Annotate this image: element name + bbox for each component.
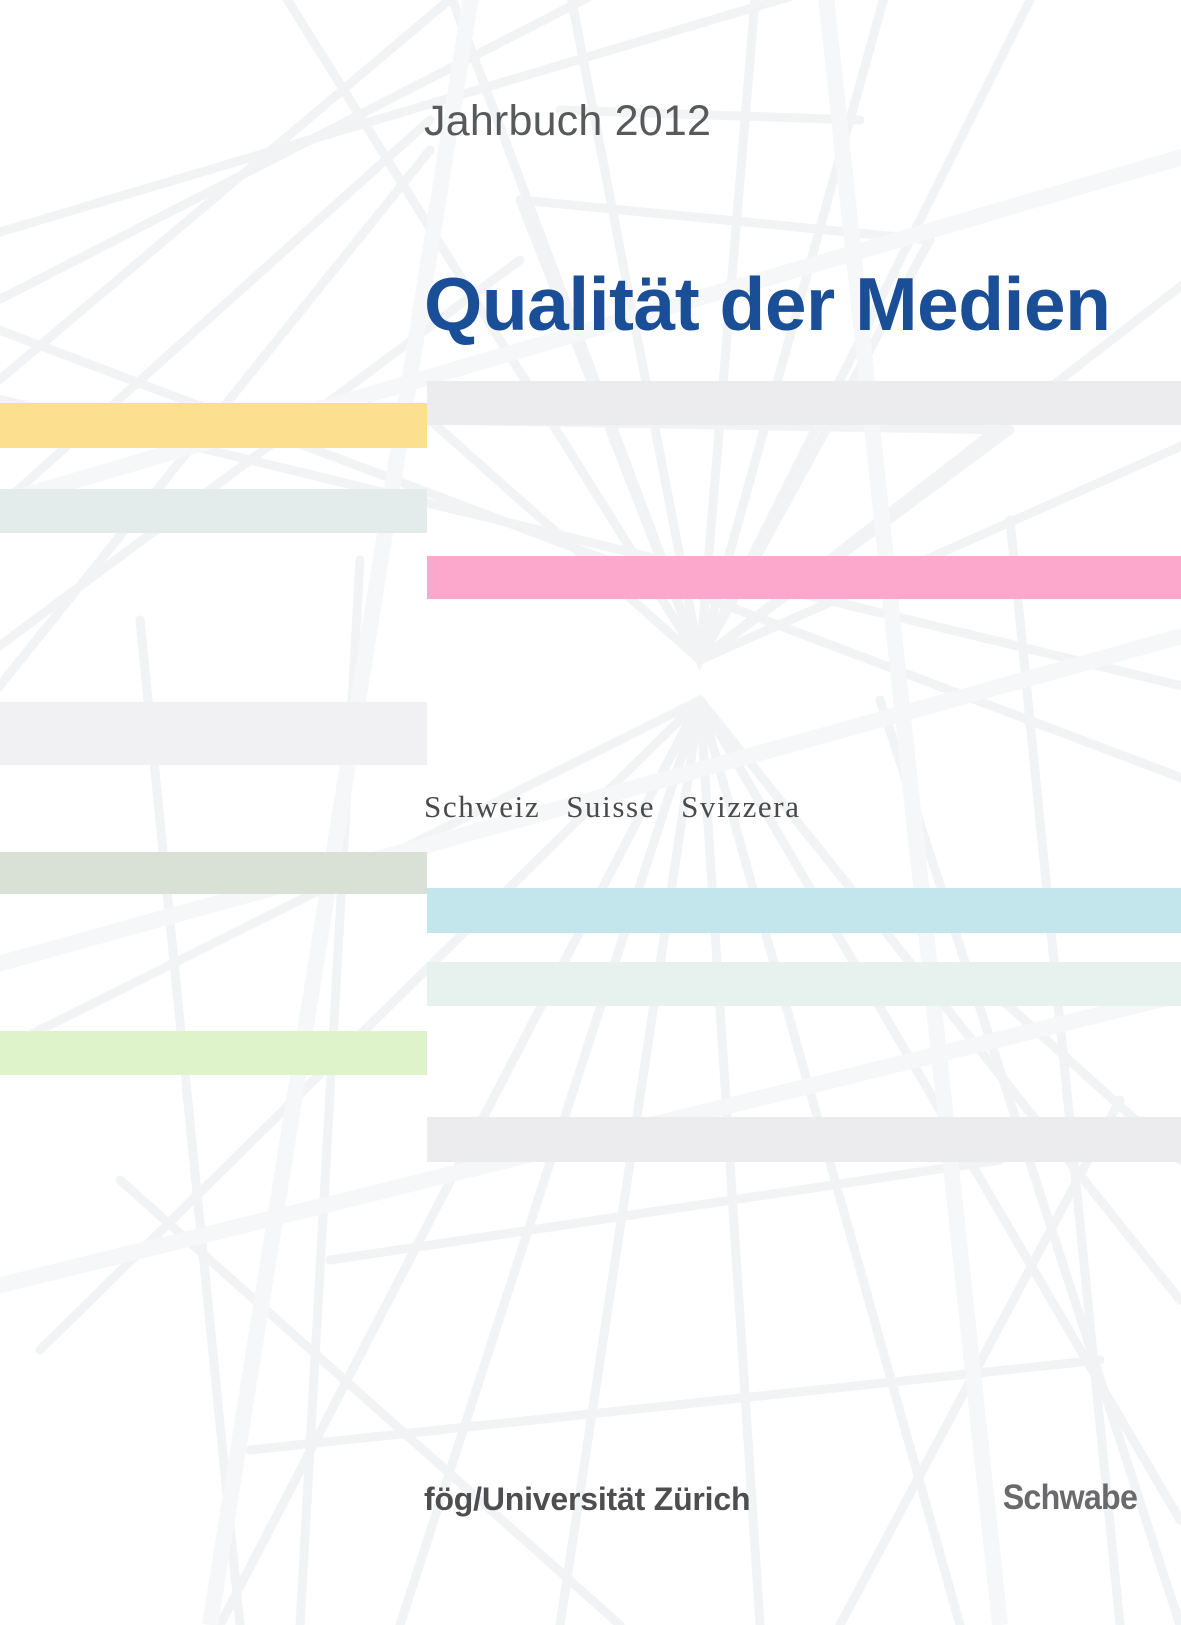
language-it: Svizzera: [681, 789, 801, 824]
bar-yellow-left: [0, 403, 427, 448]
institute-credit: fög/Universität Zürich: [424, 1481, 750, 1518]
book-cover: Jahrbuch 2012 Qualität der Medien Schwei…: [0, 0, 1181, 1625]
bar-pink-right: [427, 556, 1181, 599]
bar-bluegray-left: [0, 489, 427, 533]
bar-cyan-right: [427, 888, 1181, 933]
bar-lightgray-left: [0, 702, 427, 765]
bar-gray-bottom-right: [427, 1117, 1181, 1162]
language-subtitle: SchweizSuisseSvizzera: [424, 789, 801, 825]
page-title: Qualität der Medien: [424, 261, 1110, 347]
language-de: Schweiz: [424, 789, 540, 824]
series-year-label: Jahrbuch 2012: [424, 97, 711, 146]
bar-mint-right: [427, 962, 1181, 1006]
bar-sage-left: [0, 852, 427, 894]
bar-gray-top-right: [427, 381, 1181, 425]
language-fr: Suisse: [566, 789, 655, 824]
bar-green-left: [0, 1031, 427, 1075]
publisher-logo: Schwabe: [1003, 1478, 1137, 1518]
